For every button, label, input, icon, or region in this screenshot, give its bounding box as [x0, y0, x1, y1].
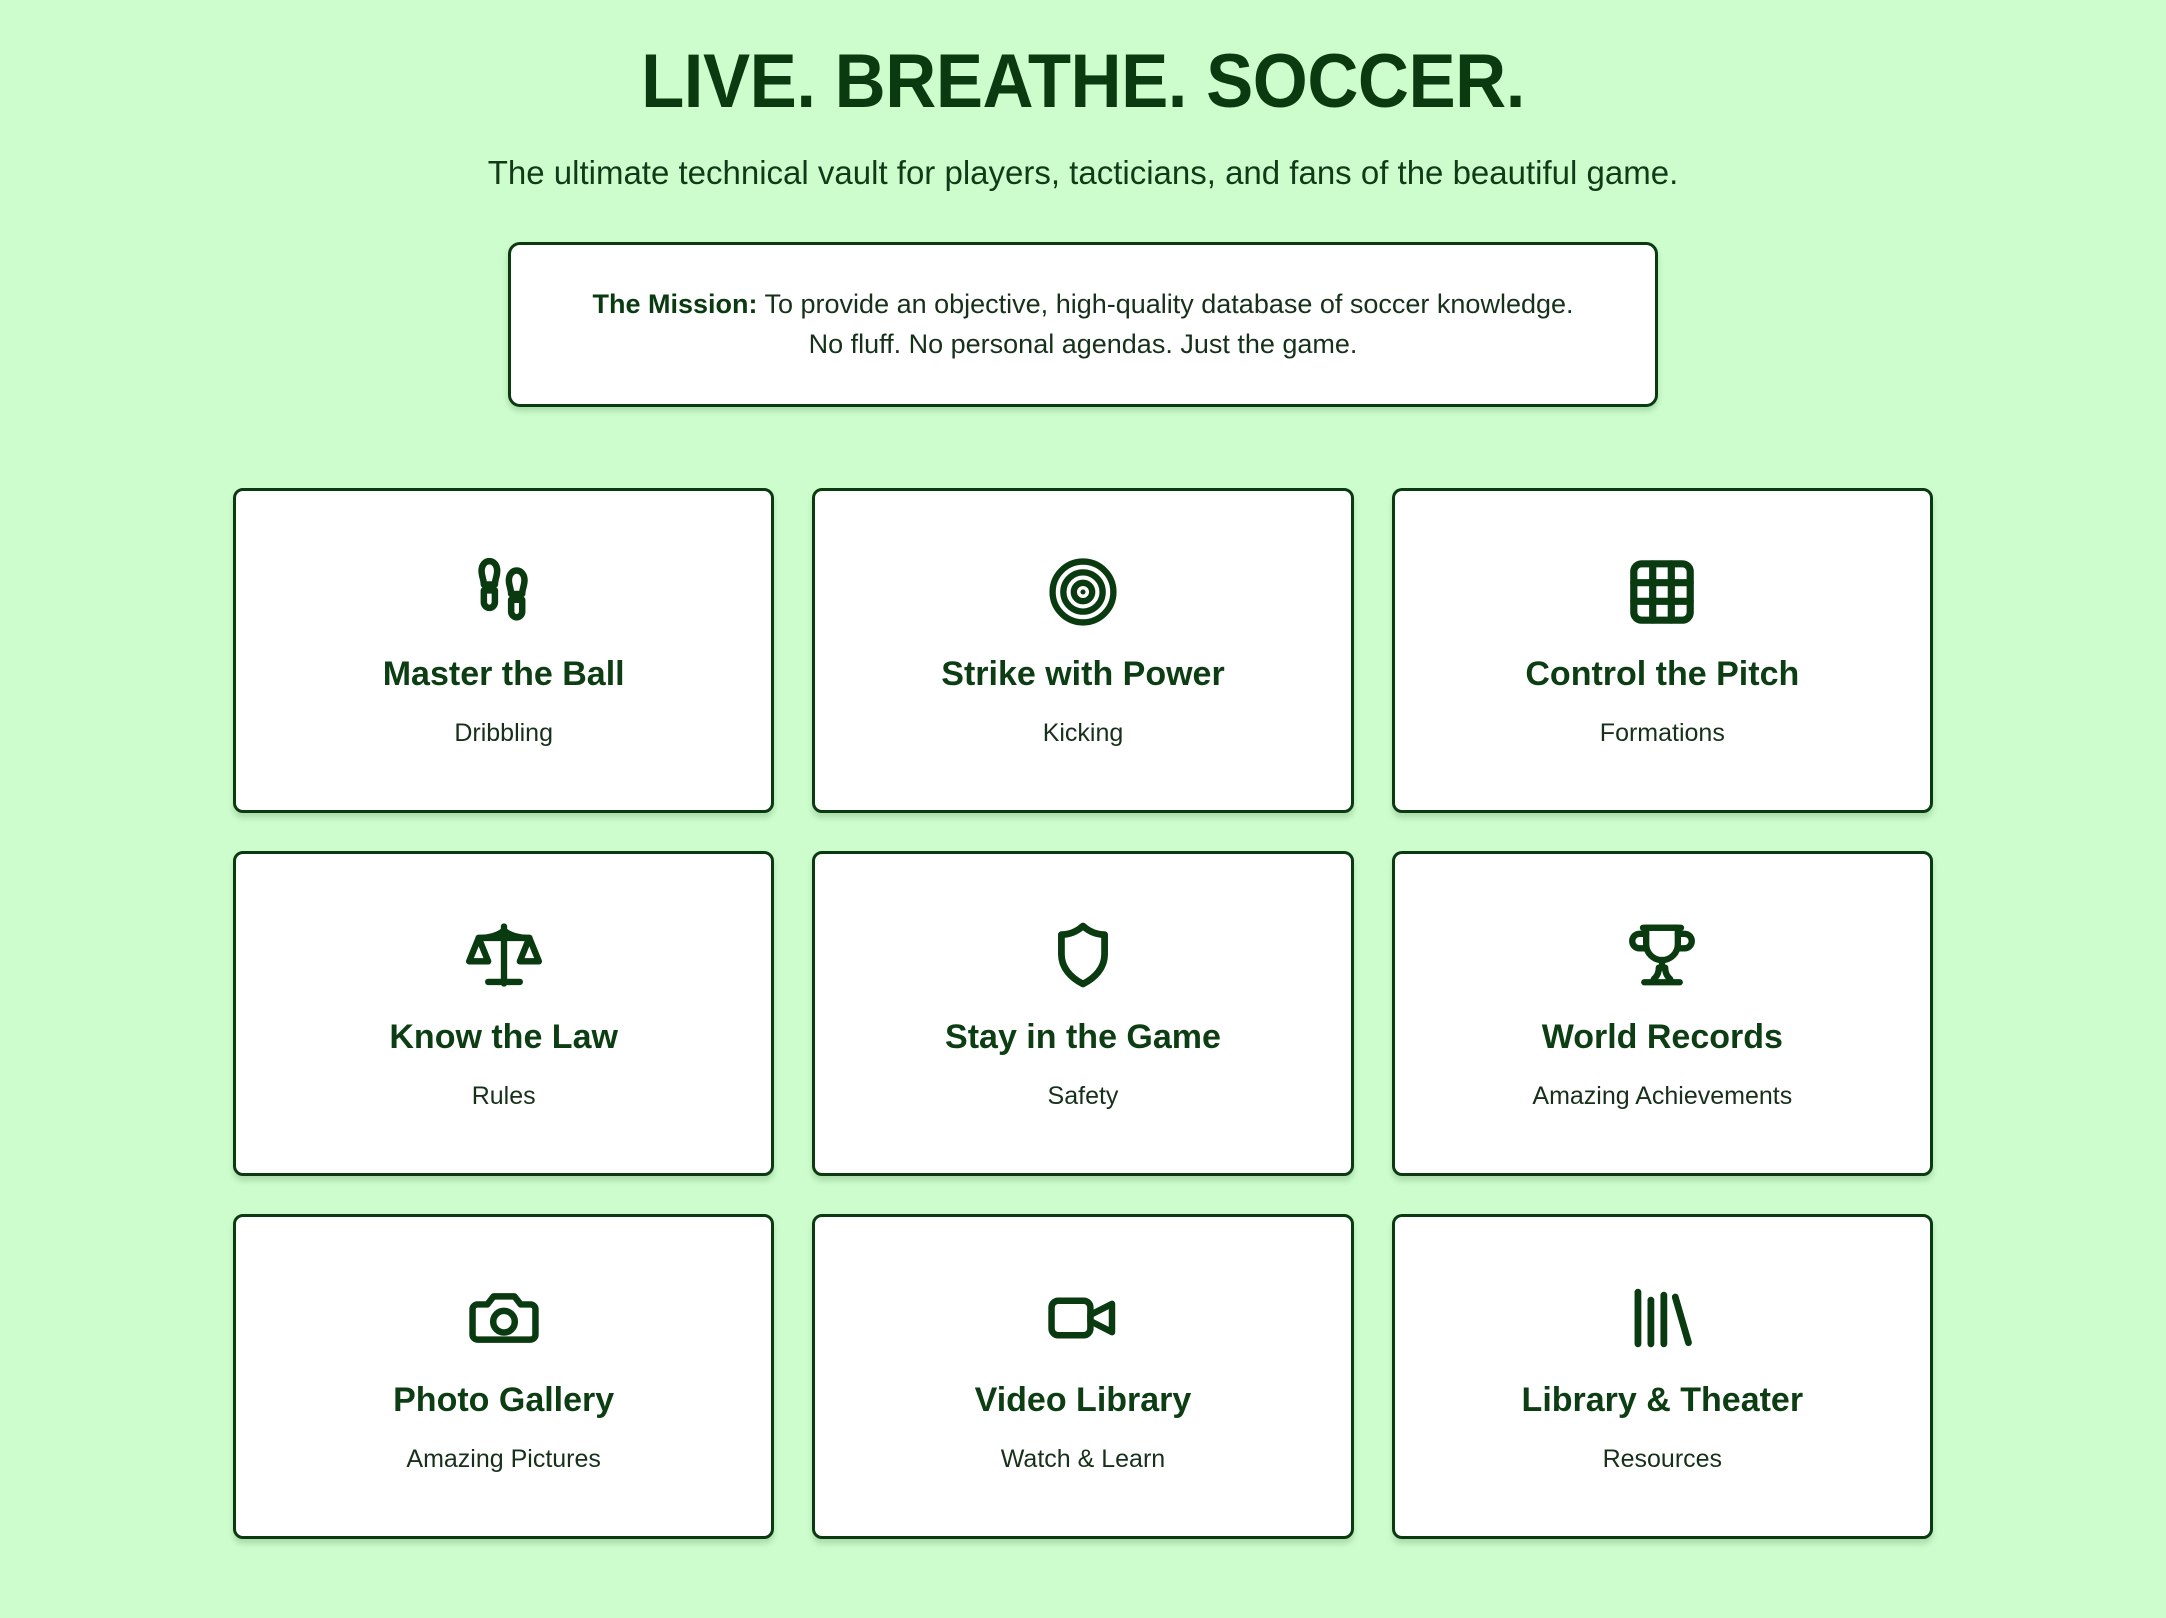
card-strike-with-power[interactable]: Strike with Power Kicking — [812, 488, 1353, 813]
scales-icon — [466, 916, 542, 994]
card-library-and-theater[interactable]: Library & Theater Resources — [1392, 1214, 1933, 1539]
feature-card-grid: Master the Ball Dribbling Strike with Po… — [233, 488, 1933, 1539]
mission-box: The Mission: To provide an objective, hi… — [508, 242, 1658, 407]
video-icon — [1046, 1279, 1120, 1357]
card-title: Master the Ball — [383, 655, 625, 694]
card-stay-in-the-game[interactable]: Stay in the Game Safety — [812, 851, 1353, 1176]
card-subtitle: Resources — [1603, 1444, 1723, 1474]
camera-icon — [467, 1279, 541, 1357]
target-icon — [1045, 553, 1121, 631]
mission-label: The Mission: — [592, 289, 757, 319]
card-title: Stay in the Game — [945, 1018, 1221, 1057]
page-title: LIVE. BREATHE. SOCCER. — [76, 44, 2090, 120]
card-subtitle: Amazing Achievements — [1532, 1081, 1792, 1111]
mission-text: The Mission: To provide an objective, hi… — [575, 284, 1591, 365]
page-subtitle: The ultimate technical vault for players… — [0, 153, 2166, 193]
hero-section: LIVE. BREATHE. SOCCER. The ultimate tech… — [0, 44, 2166, 193]
card-subtitle: Dribbling — [454, 718, 553, 748]
card-know-the-law[interactable]: Know the Law Rules — [233, 851, 774, 1176]
card-title: Video Library — [975, 1381, 1192, 1420]
mission-body: To provide an objective, high-quality da… — [765, 289, 1574, 360]
mission-section: The Mission: To provide an objective, hi… — [0, 242, 2166, 407]
card-control-the-pitch[interactable]: Control the Pitch Formations — [1392, 488, 1933, 813]
card-master-the-ball[interactable]: Master the Ball Dribbling — [233, 488, 774, 813]
footprints-icon — [465, 553, 543, 631]
card-world-records[interactable]: World Records Amazing Achievements — [1392, 851, 1933, 1176]
page-root: LIVE. BREATHE. SOCCER. The ultimate tech… — [0, 0, 2166, 1618]
card-title: Library & Theater — [1522, 1381, 1804, 1420]
card-subtitle: Watch & Learn — [1001, 1444, 1165, 1474]
grid-icon — [1626, 553, 1698, 631]
books-icon — [1625, 1279, 1699, 1357]
card-subtitle: Kicking — [1043, 718, 1124, 748]
card-title: Control the Pitch — [1525, 655, 1799, 694]
card-subtitle: Rules — [472, 1081, 536, 1111]
shield-icon — [1046, 916, 1120, 994]
card-title: Know the Law — [389, 1018, 618, 1057]
card-subtitle: Amazing Pictures — [406, 1444, 601, 1474]
card-title: World Records — [1542, 1018, 1783, 1057]
card-video-library[interactable]: Video Library Watch & Learn — [812, 1214, 1353, 1539]
card-title: Strike with Power — [941, 655, 1224, 694]
card-subtitle: Safety — [1048, 1081, 1119, 1111]
card-photo-gallery[interactable]: Photo Gallery Amazing Pictures — [233, 1214, 774, 1539]
card-subtitle: Formations — [1600, 718, 1725, 748]
card-title: Photo Gallery — [393, 1381, 614, 1420]
trophy-icon — [1624, 916, 1700, 994]
